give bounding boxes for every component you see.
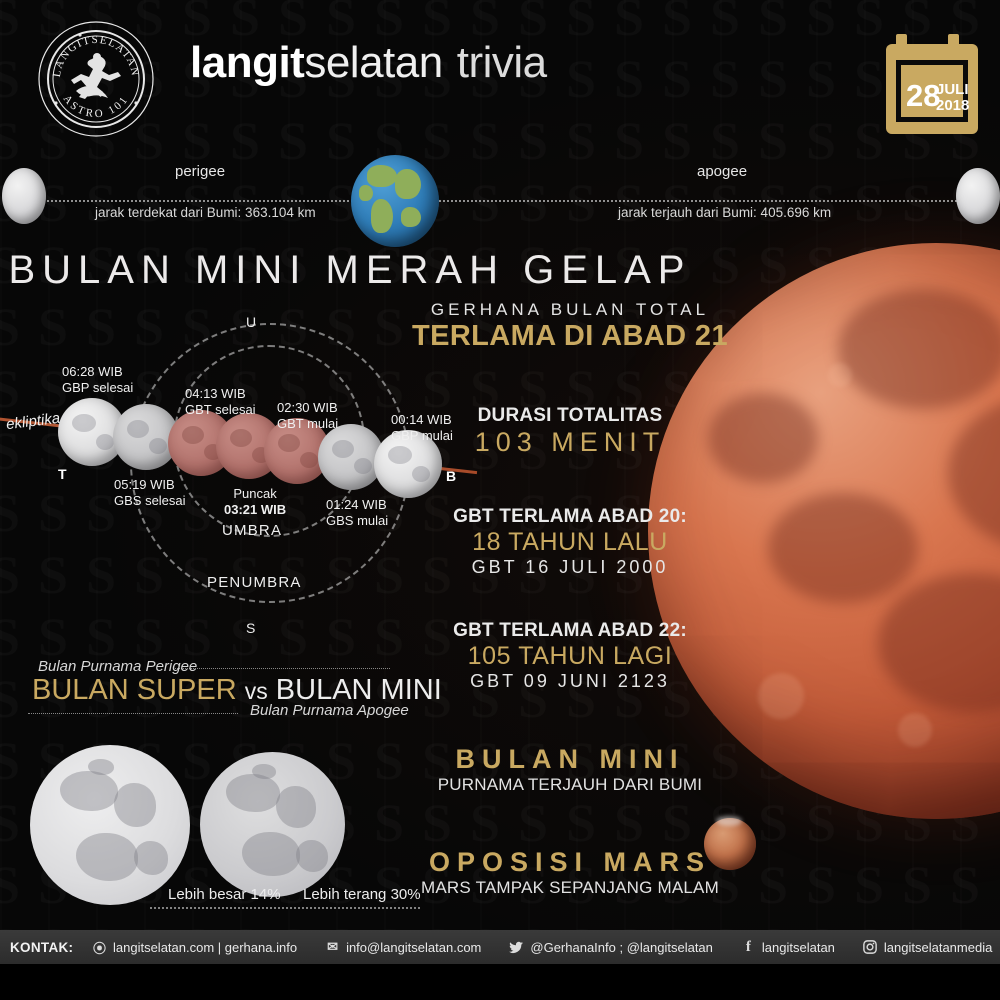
footer-text-facebook: langitselatan xyxy=(762,940,835,955)
moon-icon-perigee xyxy=(2,168,46,224)
phase-time-05-19: 05:19 WIBGBS selesai xyxy=(114,477,186,508)
moon-icon-apogee xyxy=(956,168,1000,224)
svg-text:ASTRO 101: ASTRO 101 xyxy=(61,93,132,120)
compare-title-vs: vs xyxy=(245,678,268,704)
phase-time-06-28: 06:28 WIBGBP selesai xyxy=(62,364,133,395)
apogee-label: apogee xyxy=(697,163,747,180)
headline-main: TERLAMA DI ABAD 21 xyxy=(400,320,740,353)
brand-wordmark: langitselatantrivia xyxy=(190,38,547,88)
calendar-year: 2018 xyxy=(936,97,969,114)
orbit-dotted-line xyxy=(12,200,988,202)
twitter-icon xyxy=(509,940,524,955)
duration-value: 103 MENIT xyxy=(400,427,740,458)
perigee-distance: jarak terdekat dari Bumi: 363.104 km xyxy=(95,205,316,220)
phase-time-01-24: 01:24 WIBGBS mulai xyxy=(326,497,388,528)
footer-text-instagram: langitselatanmedia xyxy=(884,940,992,955)
c20-label: GBT TERLAMA ABAD 20: xyxy=(400,506,740,528)
calendar-month: JULI xyxy=(936,81,969,98)
stat-bright: Lebih terang 30% xyxy=(303,886,421,903)
orbit-distance-band: perigee jarak terdekat dari Bumi: 363.10… xyxy=(0,155,1000,250)
caption-rule-top xyxy=(175,668,390,669)
penumbra-label: PENUMBRA xyxy=(207,574,302,591)
earth-globe-icon xyxy=(351,155,439,247)
compare-title-gold: BULAN SUPER xyxy=(32,674,237,706)
brand-langit: langit xyxy=(190,38,304,87)
footer-spacer xyxy=(0,964,1000,1000)
facebook-icon: f xyxy=(741,940,756,955)
email-icon: ✉ xyxy=(325,940,340,955)
duration-label: DURASI TOTALITAS xyxy=(400,405,740,427)
footer-link-website[interactable]: ⦿ langitselatan.com | gerhana.info xyxy=(92,940,297,955)
apogee-distance: jarak terjauh dari Bumi: 405.696 km xyxy=(618,205,831,220)
page-title: BULAN MINI MERAH GELAP xyxy=(0,248,700,293)
footer-text-website: langitselatan.com | gerhana.info xyxy=(113,940,297,955)
direction-mark-u: U xyxy=(246,314,258,330)
footer-contact-bar: ⦿ langitselatan.com | gerhana.info ✉ inf… xyxy=(0,930,1000,964)
c22-label: GBT TERLAMA ABAD 22: xyxy=(400,620,740,642)
c20-date: GBT 16 JULI 2000 xyxy=(400,557,740,578)
perigee-caption: Bulan Purnama Perigee xyxy=(38,658,197,675)
direction-mark-t: T xyxy=(58,466,67,482)
ecliptic-label: ekliptika xyxy=(5,410,61,433)
c20-value: 18 TAHUN LALU xyxy=(400,528,740,557)
perigee-label: perigee xyxy=(175,163,225,180)
supermoon-disc xyxy=(30,745,190,905)
minimoon-title: BULAN MINI xyxy=(400,744,740,775)
duration-block: DURASI TOTALITAS 103 MENIT xyxy=(400,405,740,458)
stat-size: Lebih besar 14% xyxy=(168,886,281,903)
phase-time-04-13: 04:13 WIBGBT selesai xyxy=(185,386,256,417)
peak-label: Puncak03:21 WIB xyxy=(224,486,286,517)
minimoon-block: BULAN MINI PURNAMA TERJAUH DARI BUMI xyxy=(400,744,740,795)
calendar-icon: 28 JULI 2018 xyxy=(884,32,980,136)
headline-block: GERHANA BULAN TOTAL TERLAMA DI ABAD 21 xyxy=(400,300,740,353)
footer-text-email: info@langitselatan.com xyxy=(346,940,481,955)
eclipse-facts-column: GERHANA BULAN TOTAL TERLAMA DI ABAD 21 D… xyxy=(400,300,740,898)
footer-link-facebook[interactable]: f langitselatan xyxy=(741,940,835,955)
minimoon-sub: PURNAMA TERJAUH DARI BUMI xyxy=(400,775,740,795)
header: LANGITSELATAN ASTRO 101 langitselatantri… xyxy=(0,0,1000,150)
brand-trivia: trivia xyxy=(457,38,547,87)
instagram-icon xyxy=(863,940,878,955)
century-20-block: GBT TERLAMA ABAD 20: 18 TAHUN LALU GBT 1… xyxy=(400,506,740,578)
kontak-label: KONTAK: xyxy=(10,930,73,964)
footer-link-instagram[interactable]: langitselatanmedia xyxy=(863,940,992,955)
brand-selatan: selatan xyxy=(304,38,442,87)
footer-link-twitter[interactable]: @GerhanaInfo ; @langitselatan xyxy=(509,940,713,955)
mars-title: OPOSISI MARS xyxy=(400,847,740,878)
apogee-caption: Bulan Purnama Apogee xyxy=(250,702,409,719)
umbra-label: UMBRA xyxy=(222,522,282,539)
c22-value: 105 TAHUN LAGI xyxy=(400,642,740,671)
footer-items: ⦿ langitselatan.com | gerhana.info ✉ inf… xyxy=(0,940,1000,955)
rss-icon: ⦿ xyxy=(92,940,107,955)
footer-text-twitter: @GerhanaInfo ; @langitselatan xyxy=(530,940,713,955)
compare-stats-rule xyxy=(150,907,420,909)
c22-date: GBT 09 JUNI 2123 xyxy=(400,671,740,692)
phase-time-02-30: 02:30 WIBGBT mulai xyxy=(277,400,338,431)
mars-block: OPOSISI MARS MARS TAMPAK SEPANJANG MALAM xyxy=(400,847,740,898)
caption-rule-bottom xyxy=(28,713,238,714)
direction-mark-s: S xyxy=(246,620,257,636)
headline-kicker: GERHANA BULAN TOTAL xyxy=(400,300,740,320)
brand-logo-seal-icon: LANGITSELATAN ASTRO 101 xyxy=(36,19,156,139)
mars-sub: MARS TAMPAK SEPANJANG MALAM xyxy=(400,878,740,898)
footer-link-email[interactable]: ✉ info@langitselatan.com xyxy=(325,940,481,955)
century-22-block: GBT TERLAMA ABAD 22: 105 TAHUN LAGI GBT … xyxy=(400,620,740,692)
minimoon-disc xyxy=(200,752,345,897)
